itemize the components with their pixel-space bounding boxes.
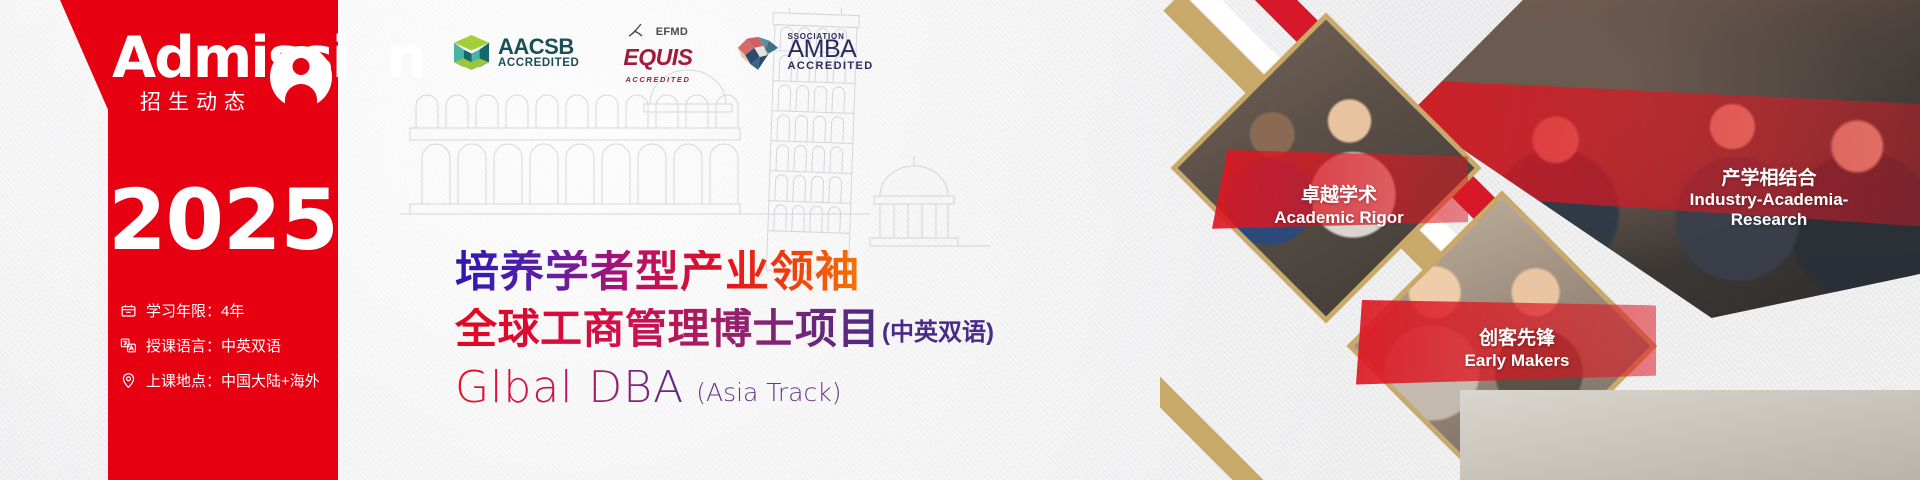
amba-name: AMBA bbox=[787, 37, 873, 62]
admission-logo-chinese: 招生动态 bbox=[140, 86, 252, 116]
program-track-note: (Asia Track) bbox=[696, 378, 841, 407]
collage-label-academic-en: Academic Rigor bbox=[1246, 208, 1432, 228]
collage-label-makers: 创客先锋 Early Makers bbox=[1422, 328, 1612, 371]
info-row-duration: 学习年限：4年 bbox=[120, 300, 350, 321]
headline-program-title-en: Glbal DBA (Asia Track) bbox=[455, 366, 994, 410]
collage-label-makers-cn: 创客先锋 bbox=[1422, 328, 1612, 351]
program-title-en: Glbal DBA bbox=[455, 366, 684, 410]
aacsb-sub: ACCREDITED bbox=[498, 58, 579, 70]
aacsb-cube-icon bbox=[452, 33, 491, 72]
info-row-location: 上课地点：中国大陆+海外 bbox=[120, 370, 350, 391]
program-info-list: 学习年限：4年 授课语言：中英双语 上课地点：中国大陆+海外 bbox=[120, 300, 350, 405]
collage-label-industry-cn: 产学相结合 bbox=[1654, 168, 1884, 190]
aacsb-logo: AACSB ACCREDITED bbox=[452, 33, 579, 72]
admission-logo: Admission 招生动态 bbox=[112, 24, 350, 120]
info-text-language: 授课语言：中英双语 bbox=[146, 335, 281, 356]
amba-diamond-icon bbox=[736, 35, 780, 71]
equis-swoosh-icon bbox=[628, 22, 652, 38]
language-icon bbox=[120, 337, 137, 354]
program-title-cn: 全球工商管理博士项目 bbox=[455, 308, 880, 350]
admission-logo-word-tail: n bbox=[386, 25, 425, 91]
year-2025: 2025 bbox=[108, 178, 338, 262]
person-body-shape bbox=[285, 84, 317, 108]
amba-logo: SSOCIATION AMBA ACCREDITED bbox=[736, 33, 873, 72]
efmd-label: EFMD bbox=[656, 27, 688, 38]
collage-bottom-strip bbox=[1460, 390, 1920, 480]
headline-program-title: 全球工商管理博士项目 (中英双语) bbox=[455, 308, 994, 350]
photo-collage: 产学相结合 Industry-Academia-Research 卓越学术 Ac… bbox=[1160, 0, 1920, 480]
admission-banner: Admission 招生动态 2025 学习年限：4年 bbox=[0, 0, 1920, 480]
amba-sub: ACCREDITED bbox=[787, 61, 873, 72]
collage-label-industry-en: Industry-Academia-Research bbox=[1654, 190, 1884, 230]
program-title-bilingual-note: (中英双语) bbox=[882, 312, 994, 347]
equis-name: EQUIS bbox=[623, 46, 692, 69]
collage-label-academic-cn: 卓越学术 bbox=[1246, 185, 1432, 208]
person-circle-icon bbox=[270, 46, 332, 108]
info-row-language: 授课语言：中英双语 bbox=[120, 335, 350, 356]
collage-label-academic: 卓越学术 Academic Rigor bbox=[1246, 185, 1432, 228]
calendar-icon bbox=[120, 302, 137, 319]
accreditation-logos: AACSB ACCREDITED EFMD EQUIS ACCREDITED bbox=[452, 22, 874, 84]
info-text-duration: 学习年限：4年 bbox=[146, 300, 244, 321]
headline-block: 培养学者型产业领袖 全球工商管理博士项目 (中英双语) Glbal DBA (A… bbox=[455, 250, 994, 410]
equis-logo: EFMD EQUIS ACCREDITED bbox=[623, 22, 692, 84]
equis-sub: ACCREDITED bbox=[625, 76, 690, 84]
person-head-shape bbox=[293, 58, 310, 75]
headline-tagline: 培养学者型产业领袖 bbox=[455, 250, 994, 294]
collage-label-industry: 产学相结合 Industry-Academia-Research bbox=[1654, 168, 1884, 231]
location-pin-icon bbox=[120, 372, 137, 389]
gold-stripe-lower bbox=[1160, 291, 1307, 480]
aacsb-name: AACSB bbox=[498, 36, 579, 58]
collage-label-makers-en: Early Makers bbox=[1422, 351, 1612, 371]
info-text-location: 上课地点：中国大陆+海外 bbox=[146, 370, 320, 391]
